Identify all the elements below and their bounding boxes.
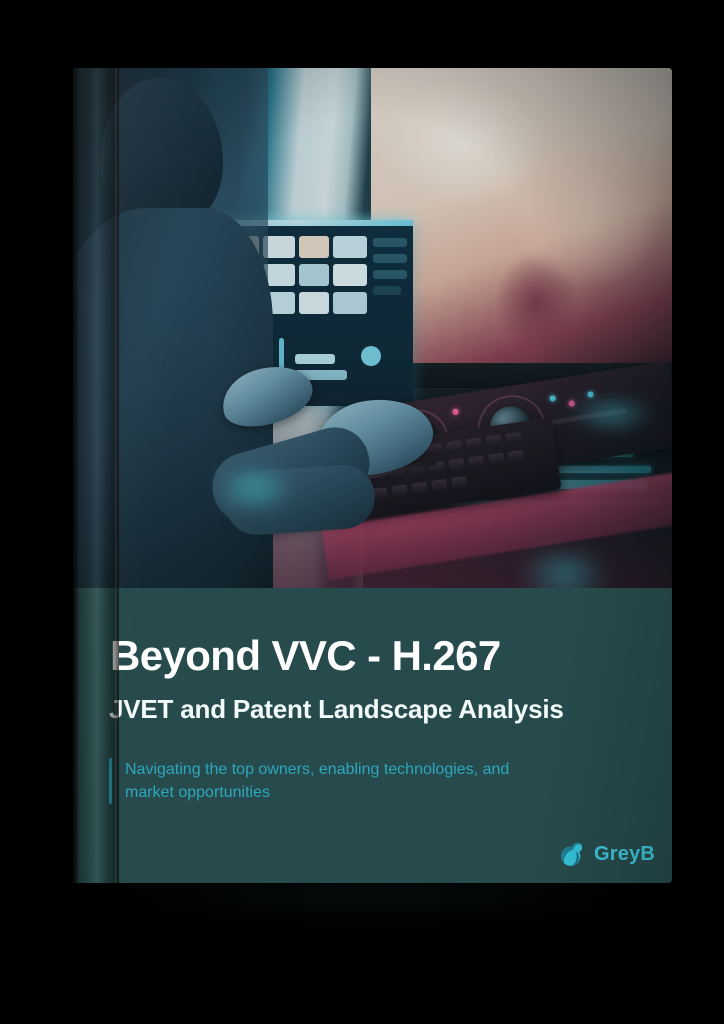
page-subtitle: JVET and Patent Landscape Analysis bbox=[109, 696, 564, 722]
cover-photo bbox=[73, 68, 672, 588]
cover-text-panel: Beyond VVC - H.267 JVET and Patent Lands… bbox=[73, 588, 672, 883]
photo-teal-tint bbox=[73, 68, 672, 588]
tagline-text: Navigating the top owners, enabling tech… bbox=[125, 758, 529, 804]
tagline-block: Navigating the top owners, enabling tech… bbox=[109, 758, 529, 804]
brand-logo: GreyB bbox=[558, 840, 655, 868]
cover-mockup-stage: Beyond VVC - H.267 JVET and Patent Lands… bbox=[0, 0, 724, 1024]
accent-bar bbox=[109, 758, 112, 804]
book-cover: Beyond VVC - H.267 JVET and Patent Lands… bbox=[73, 68, 672, 883]
greyb-globe-icon bbox=[558, 840, 586, 868]
page-title: Beyond VVC - H.267 bbox=[110, 635, 501, 677]
brand-name: GreyB bbox=[594, 843, 655, 866]
